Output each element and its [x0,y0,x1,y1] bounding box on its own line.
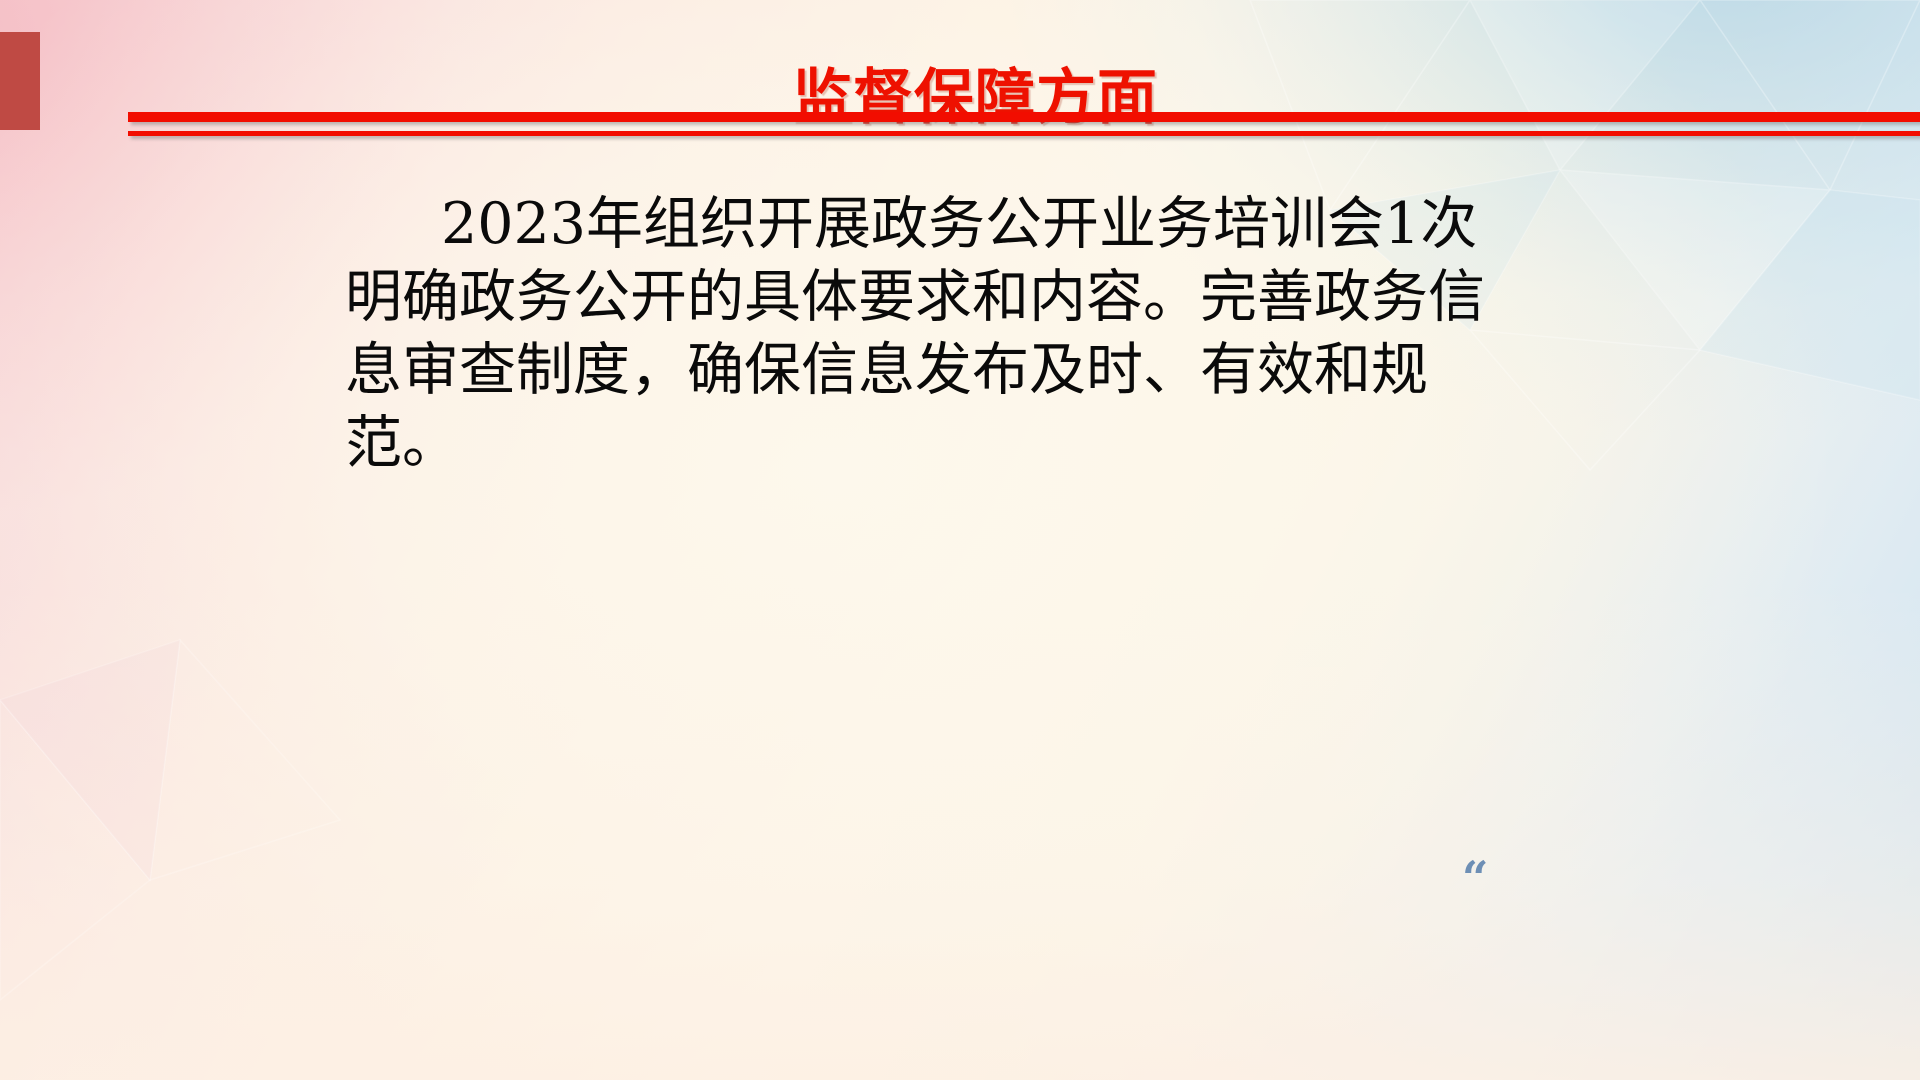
body-paragraph: 2023年组织开展政务公开业务培训会1次明确政务公开的具体要求和内容。完善政务信… [345,188,1525,480]
presentation-slide: 监督保障方面 2023年组织开展政务公开业务培训会1次明确政务公开的具体要求和内… [0,0,1920,1080]
divider-rule-thick [128,112,1920,122]
title-divider-group [128,112,1920,144]
title-area: 监督保障方面 [0,26,1920,171]
body-content-area: 2023年组织开展政务公开业务培训会1次明确政务公开的具体要求和内容。完善政务信… [345,188,1525,480]
decorative-quote-icon: “ [1462,855,1488,901]
divider-rule-thin [128,131,1920,136]
